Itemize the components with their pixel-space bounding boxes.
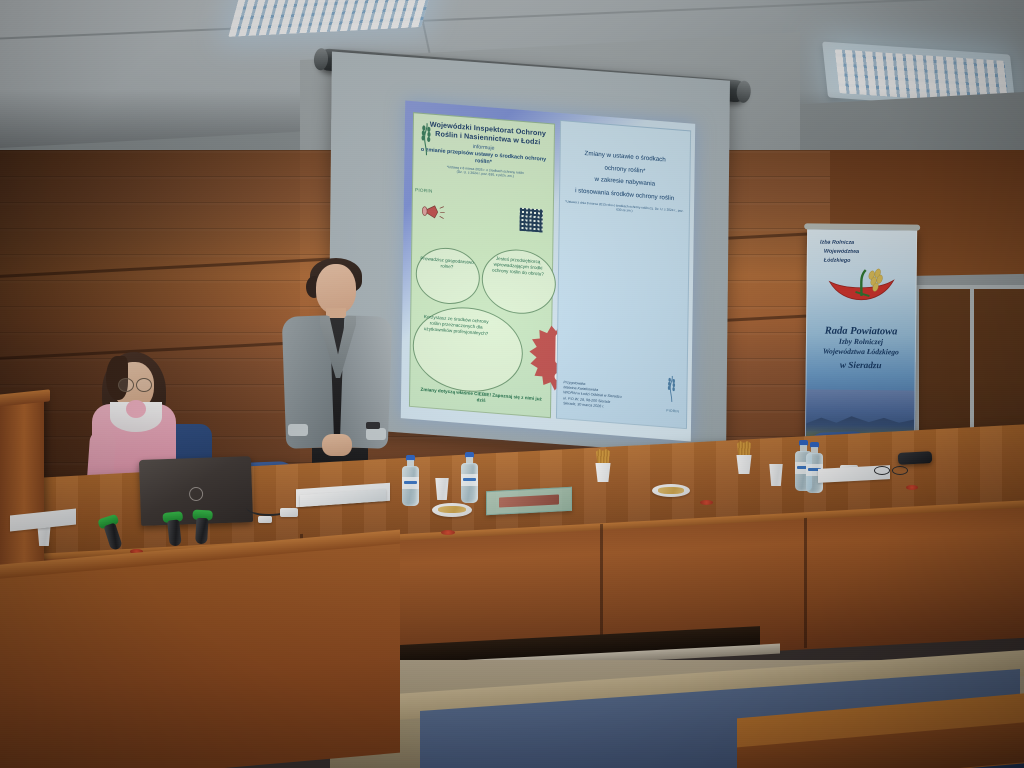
eyeglasses-icon[interactable] xyxy=(874,466,908,473)
slide-left-panel: Wojewódzki Inspektorat Ochrony Roślin i … xyxy=(409,112,555,418)
presenter-cuff xyxy=(366,428,386,440)
slide-right-panel: Zmiany w ustawie o środkach ochrony rośl… xyxy=(556,120,691,429)
microphone[interactable] xyxy=(193,510,211,545)
banner-header-3: Łódzkiego xyxy=(824,257,916,266)
presenter-clasped-hands xyxy=(322,434,352,456)
red-marker[interactable] xyxy=(906,485,918,490)
breadstick-cup[interactable] xyxy=(594,452,612,482)
rollup-banner: Izba Rolnicza Województwa Łódzkiego Rada… xyxy=(805,228,917,449)
glasses-icon xyxy=(118,378,152,390)
small-device[interactable] xyxy=(280,508,298,517)
megaphone-icon xyxy=(421,202,447,222)
biscuit-plate[interactable] xyxy=(652,484,690,497)
presenter-head xyxy=(316,264,356,314)
wristwatch-icon xyxy=(366,422,380,429)
small-device[interactable] xyxy=(258,516,272,523)
slide-signature-block: Przygotowała: Malwina Kwiatkowska WIORiN… xyxy=(563,380,622,411)
operator-white-collar xyxy=(110,402,162,432)
wheat-logo-icon xyxy=(418,122,434,157)
qr-code-icon[interactable] xyxy=(519,208,542,233)
microphone[interactable] xyxy=(164,511,183,546)
banner-line-4: w Sieradzu xyxy=(807,359,915,370)
banner-header-2: Województwa xyxy=(824,248,916,257)
banner-header-1: Izba Rolnicza xyxy=(820,240,916,249)
conference-room-photo: Wojewódzki Inspektorat Ochrony Roślin i … xyxy=(0,0,1024,768)
presenter-cuff xyxy=(288,424,308,436)
pepper-wheat-emblem-icon xyxy=(825,266,897,307)
slide-brand-left: PIORIN xyxy=(415,187,433,193)
slide-brand-right: PIORIN xyxy=(666,409,679,414)
document-folder[interactable] xyxy=(486,487,572,516)
banner-main-text: Rada Powiatowa Izby Rolniczej Województw… xyxy=(807,325,915,370)
biscuit-plate[interactable] xyxy=(432,503,472,517)
bubble-shape xyxy=(415,245,480,306)
breadstick-cup[interactable] xyxy=(735,444,753,474)
equipment-case[interactable] xyxy=(898,451,933,465)
projected-slide: Wojewódzki Inspektorat Ochrony Roślin i … xyxy=(401,101,695,442)
red-marker[interactable] xyxy=(441,530,455,535)
banner-line-3: Województwa Łódzkiego xyxy=(807,347,915,358)
red-marker[interactable] xyxy=(700,500,713,505)
banner-rail xyxy=(804,223,920,230)
wheat-logo-icon xyxy=(665,374,678,403)
panel-seam xyxy=(804,518,807,648)
